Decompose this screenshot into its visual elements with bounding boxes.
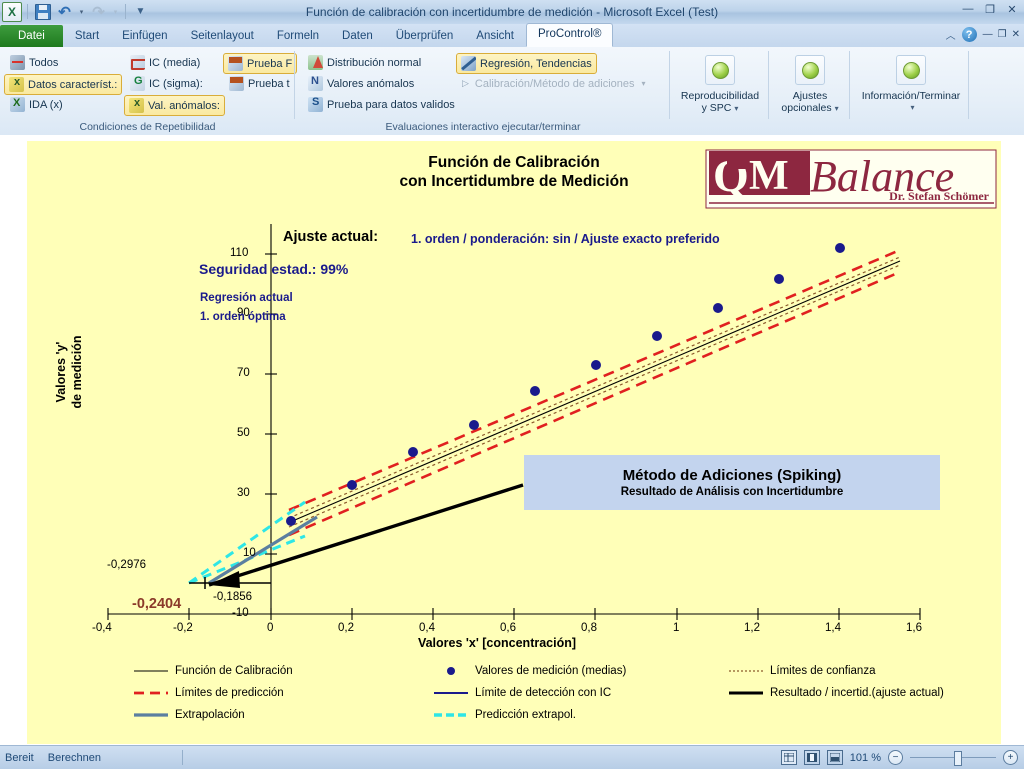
distribucion-normal-icon — [308, 55, 323, 70]
big-button-line2: y SPC▾ — [702, 102, 739, 115]
ribbon-group-repetibilidad: Todos Datos característ.: IDA (x) IC (me… — [0, 47, 295, 135]
x-tick-label: 1 — [673, 622, 679, 634]
ic-media-icon — [130, 55, 145, 70]
ribbon-item-prueba-f[interactable]: Prueba F — [223, 53, 297, 74]
tab-formeln[interactable]: Formeln — [266, 26, 330, 47]
ribbon-item-distribucion-normal[interactable]: Distribución normal — [304, 53, 425, 72]
ribbon-item-label: IC (sigma): — [149, 78, 203, 90]
ribbon-item-label: IC (media) — [149, 57, 200, 69]
green-orb-icon — [896, 55, 926, 85]
tab-start[interactable]: Start — [64, 26, 110, 47]
prueba-t-icon — [229, 76, 244, 91]
zoom-in-button[interactable]: + — [1003, 750, 1018, 765]
minimize-button[interactable]: — — [960, 2, 976, 16]
ribbon-item-ida-x[interactable]: IDA (x) — [6, 95, 67, 114]
ribbon-item-label: Val. anómalos: — [148, 100, 220, 112]
doc-minimize-button[interactable]: — — [983, 29, 993, 40]
ribbon-item-valores-anomalos[interactable]: Val. anómalos: — [124, 95, 225, 116]
legend-key-dashed-cyan — [432, 709, 470, 721]
y-tick-label: 50 — [237, 427, 250, 439]
tab-datei[interactable]: Datei — [0, 25, 63, 47]
legend-label: Límites de confianza — [770, 665, 875, 677]
legend-key-solid-thick-black — [727, 687, 765, 699]
tab-einfuegen[interactable]: Einfügen — [111, 26, 178, 47]
ida-x-icon — [10, 97, 25, 112]
prueba-f-icon — [228, 56, 243, 71]
ribbon-item-label: Todos — [29, 57, 58, 69]
seguridad-estadistica-label: Seguridad estad.: 99% — [199, 261, 348, 277]
prediction-extrapolation — [189, 502, 305, 583]
legend-item-extrapolacion: Extrapolación — [132, 709, 245, 721]
ribbon-group-separator — [849, 51, 850, 119]
page-layout-view-icon[interactable] — [804, 750, 820, 765]
legend-label: Extrapolación — [175, 709, 245, 721]
big-button-line1: Reproducibilidad — [681, 90, 759, 102]
ribbon-item-label: Prueba F — [247, 58, 292, 70]
ribbon-item-valores-anomalos-2[interactable]: Valores anómalos — [304, 74, 418, 93]
regresion-tendencias-icon — [461, 56, 476, 71]
legend-key-marker-navy-dot — [432, 665, 470, 677]
ribbon-item-label: Datos característ.: — [28, 79, 117, 91]
ribbon-item-ic-sigma[interactable]: IC (sigma): — [126, 74, 207, 93]
close-button[interactable]: ✕ — [1004, 2, 1020, 16]
extrapolation-line — [209, 517, 317, 583]
legend-label: Valores de medición (medias) — [475, 665, 626, 677]
regresion-orden-label: 1. orden óptima — [200, 311, 286, 323]
status-bar-right: 101 % − + — [781, 746, 1018, 769]
big-button-line2: opcionales▾ — [781, 102, 838, 115]
legend-label: Función de Calibración — [175, 665, 293, 677]
status-calc-mode[interactable]: Berechnen — [48, 752, 101, 764]
x-tick-label: 0 — [267, 622, 273, 634]
doc-window-controls: — ❐ ✕ — [983, 29, 1020, 40]
y-tick-label: 110 — [230, 247, 248, 259]
legend-label: Límites de predicción — [175, 687, 284, 699]
ribbon-tab-right-controls: ︿ ? — ❐ ✕ — [946, 27, 1020, 42]
reproducibilidad-y-spc-button[interactable]: Reproducibilidad y SPC▾ — [677, 51, 763, 117]
ribbon-tab-strip: Datei Start Einfügen Seitenlayout Formel… — [0, 24, 1024, 48]
legend-key-solid-slate — [132, 709, 170, 721]
chevron-down-icon: ▾ — [642, 79, 646, 88]
normal-view-icon[interactable] — [781, 750, 797, 765]
ajuste-actual-label: Ajuste actual: — [283, 229, 378, 245]
legend-key-dashed-red — [132, 687, 170, 699]
ribbon-group-separator — [968, 51, 969, 119]
qm-balance-logo: Q M Balance Dr. Stefan Schömer — [706, 150, 996, 208]
legend-key-dotted-brown — [727, 665, 765, 677]
x-tick-label: 0,2 — [338, 622, 354, 634]
ribbon-item-prueba-t[interactable]: Prueba t — [225, 74, 294, 93]
legend-item-limite-deteccion: Límite de detección con IC — [432, 687, 611, 699]
page-break-view-icon[interactable] — [827, 750, 843, 765]
ribbon-group-label: Evaluaciones interactivo ejecutar/termin… — [296, 121, 670, 133]
legend-item-funcion-calibracion: Función de Calibración — [132, 665, 293, 677]
svg-text:Dr. Stefan Schömer: Dr. Stefan Schömer — [889, 189, 990, 203]
ribbon-item-ic-media[interactable]: IC (media) — [126, 53, 204, 72]
ajuste-actual-value: 1. orden / ponderación: sin / Ajuste exa… — [411, 232, 720, 246]
ribbon-group-informacion: Información/Terminar ▾ — [851, 47, 969, 135]
val-anomalos-icon — [129, 98, 144, 113]
window-title: Función de calibración con incertidumbre… — [0, 0, 1024, 24]
annotation-result-value: -0,2404 — [132, 596, 181, 612]
restore-button[interactable]: ❐ — [982, 2, 998, 16]
legend-key-solid-navy — [432, 687, 470, 699]
doc-close-button[interactable]: ✕ — [1012, 29, 1020, 40]
y-tick-label: 70 — [237, 367, 250, 379]
tab-daten[interactable]: Daten — [331, 26, 384, 47]
y-tick-label: 10 — [243, 547, 256, 559]
ribbon-group-separator — [669, 51, 670, 119]
legend-item-resultado-incertidumbre: Resultado / incertid.(ajuste actual) — [727, 687, 944, 699]
ribbon-tabs: Datei Start Einfügen Seitenlayout Formel… — [0, 24, 614, 47]
y-axis-title: Valores 'y' de medición — [53, 312, 85, 432]
ribbon-group-label: Condiciones de Repetibilidad — [0, 121, 295, 133]
excel-window: X ↶ ▾ ↷ ▾ ▼ Función de calibración con i… — [0, 0, 1024, 768]
valores-anomalos-icon — [308, 76, 323, 91]
zoom-level[interactable]: 101 % — [850, 752, 881, 764]
x-tick-label: 0,8 — [581, 622, 597, 634]
status-divider — [182, 750, 183, 765]
callout-subtitle: Resultado de Análisis con Incertidumbre — [621, 486, 844, 498]
legend-label: Predicción extrapol. — [475, 709, 576, 721]
tab-ansicht[interactable]: Ansicht — [465, 26, 525, 47]
title-bar: X ↶ ▾ ↷ ▾ ▼ Función de calibración con i… — [0, 0, 1024, 25]
big-button-line1: Información/Terminar — [862, 90, 961, 102]
prueba-datos-validos-icon — [308, 97, 323, 112]
ribbon-item-label: IDA (x) — [29, 99, 63, 111]
ribbon-group-reproducibilidad: Reproducibilidad y SPC▾ — [671, 47, 769, 135]
legend-item-valores-medicion: Valores de medición (medias) — [432, 665, 626, 677]
collapse-ribbon-icon[interactable]: ︿ — [946, 27, 956, 42]
svg-text:M: M — [749, 153, 789, 199]
ribbon-item-todos[interactable]: Todos — [6, 53, 62, 72]
ribbon-group-separator — [294, 51, 295, 119]
callout-title: Método de Adiciones (Spiking) — [623, 467, 842, 484]
ribbon-item-datos-caracteristicos[interactable]: Datos característ.: — [4, 74, 122, 95]
x-tick-label: 0,4 — [419, 622, 435, 634]
legend-label: Resultado / incertid.(ajuste actual) — [770, 687, 944, 699]
annotation-upper-limit: -0,2976 — [107, 559, 146, 571]
ribbon-item-label: Prueba para datos validos — [327, 99, 455, 111]
zoom-out-button[interactable]: − — [888, 750, 903, 765]
ribbon-item-label: Valores anómalos — [327, 78, 414, 90]
legend-item-limites-confianza: Límites de confianza — [727, 665, 875, 677]
status-bar: Bereit Berechnen 101 % − + — [0, 745, 1024, 769]
green-orb-icon — [795, 55, 825, 85]
x-tick-label: 0,6 — [500, 622, 516, 634]
ribbon-item-calibracion-adiciones: ▷ Calibración/Método de adiciones ▾ — [458, 74, 650, 93]
status-bar-left: Bereit Berechnen — [5, 746, 101, 769]
regresion-actual-label: Regresión actual — [200, 292, 293, 304]
ribbon-item-regresion-tendencias[interactable]: Regresión, Tendencias — [456, 53, 597, 74]
x-tick-label: -0,2 — [173, 622, 193, 634]
x-tick-label: 1,6 — [906, 622, 922, 634]
window-controls: — ❐ ✕ — [960, 2, 1020, 16]
ajustes-opcionales-button[interactable]: Ajustes opcionales▾ — [767, 51, 853, 117]
informacion-terminar-button[interactable]: Información/Terminar ▾ — [861, 51, 961, 117]
tab-seitenlayout[interactable]: Seitenlayout — [180, 26, 265, 47]
zoom-slider[interactable] — [910, 757, 996, 758]
ribbon-item-label: Regresión, Tendencias — [480, 58, 592, 70]
legend-item-limites-prediccion: Límites de predicción — [132, 687, 284, 699]
chevron-down-icon: ▾ — [734, 104, 738, 113]
chevron-down-icon: ▾ — [910, 102, 914, 114]
x-tick-label: -0,4 — [92, 622, 112, 634]
chevron-down-icon: ▾ — [835, 104, 839, 113]
legend-item-prediccion-extrapol: Predicción extrapol. — [432, 709, 576, 721]
datos-caracteristicos-icon — [9, 77, 24, 92]
metodo-adiciones-callout: Método de Adiciones (Spiking) Resultado … — [524, 455, 940, 510]
ribbon-group-evaluaciones: Distribución normal Valores anómalos Pru… — [296, 47, 670, 135]
axes — [108, 224, 920, 620]
chart-area[interactable]: Función de Calibración con Incertidumbre… — [27, 141, 1001, 744]
ribbon-item-label: Calibración/Método de adiciones — [475, 78, 635, 90]
legend-key-solid-thin-black — [132, 665, 170, 677]
annotation-lower-limit: -0,1856 — [213, 591, 252, 603]
y-tick-label: -10 — [232, 607, 249, 619]
ribbon-item-prueba-datos-validos[interactable]: Prueba para datos validos — [304, 95, 459, 114]
x-tick-label: 1,2 — [744, 622, 760, 634]
triangle-right-icon: ▷ — [462, 78, 469, 89]
ribbon-group-ajustes: Ajustes opcionales▾ — [770, 47, 850, 135]
chart-legend: Función de Calibración Valores de medici… — [27, 665, 1001, 735]
todos-icon — [10, 55, 25, 70]
tab-ueberpruefen[interactable]: Überprüfen — [385, 26, 465, 47]
green-orb-icon — [705, 55, 735, 85]
ic-sigma-icon — [130, 76, 145, 91]
x-tick-label: 1,4 — [825, 622, 841, 634]
ribbon: Todos Datos característ.: IDA (x) IC (me… — [0, 47, 1024, 136]
doc-restore-button[interactable]: ❐ — [998, 29, 1007, 40]
y-tick-label: 30 — [237, 487, 250, 499]
legend-label: Límite de detección con IC — [475, 687, 611, 699]
help-icon[interactable]: ? — [962, 27, 977, 42]
tab-procontrol[interactable]: ProControl® — [526, 23, 613, 47]
ribbon-item-label: Prueba t — [248, 78, 290, 90]
big-button-line1: Ajustes — [793, 90, 827, 102]
ribbon-item-label: Distribución normal — [327, 57, 421, 69]
x-axis-title: Valores 'x' [concentración] — [27, 636, 967, 650]
zoom-slider-thumb[interactable] — [954, 751, 962, 766]
status-state: Bereit — [5, 752, 34, 764]
